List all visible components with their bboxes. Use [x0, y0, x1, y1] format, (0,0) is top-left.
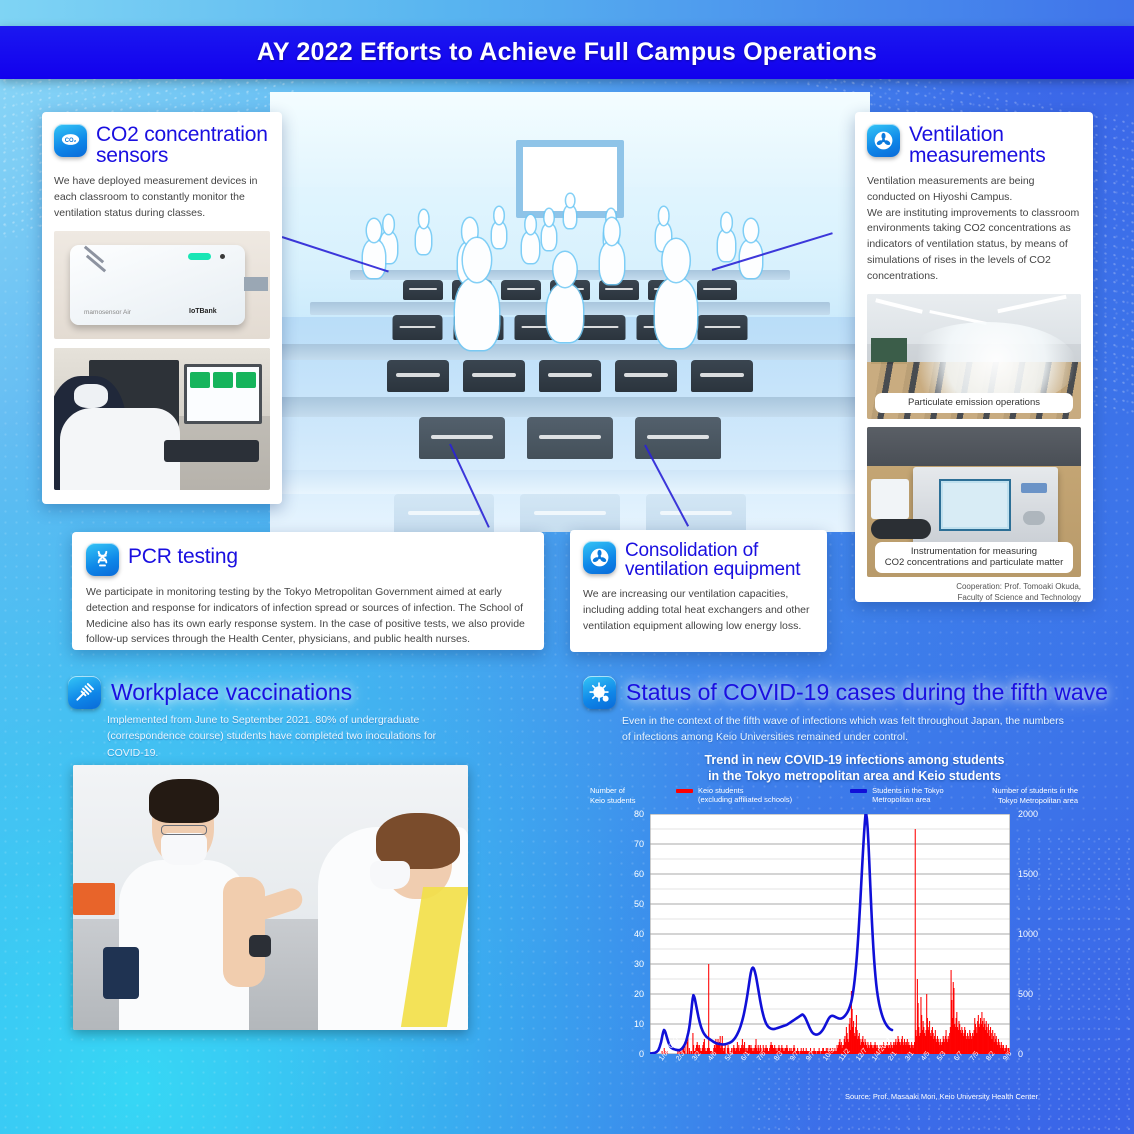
credit-line1: Cooperation: Prof. Tomoaki Okuda,: [956, 582, 1081, 591]
heading-covid-status-text: Status of COVID-19 cases during the fift…: [626, 679, 1108, 706]
left-tick-50: 50: [624, 899, 644, 909]
legend-keio-line2: (excluding affiliated schools): [698, 795, 792, 804]
card-co2-sensors: CO₂ CO2 concentration sensors We have de…: [42, 112, 282, 504]
card-consolidation-body: We are increasing our ventilation capaci…: [583, 587, 814, 634]
left-tick-70: 70: [624, 839, 644, 849]
heading-covid-status: Status of COVID-19 cases during the fift…: [583, 676, 1108, 709]
chart-left-axis-label: Number of Keio students: [590, 786, 635, 806]
left-tick-80: 80: [624, 809, 644, 819]
caption-co2-instrumentation: Instrumentation for measuring CO2 concen…: [875, 542, 1073, 574]
legend-swatch-keio: [676, 789, 693, 793]
card-pcr-title: PCR testing: [128, 543, 238, 567]
card-ventilation-title-line2: measurements: [909, 145, 1046, 166]
photo-particulate-emission: Particulate emission operations: [867, 294, 1081, 419]
svg-text:CO₂: CO₂: [65, 138, 77, 144]
legend-keio-line1: Keio students: [698, 786, 743, 795]
photo-co2-sensor-device: mamosensor Air IoTBank: [54, 231, 270, 339]
chart-title-line1: Trend in new COVID-19 infections among s…: [626, 752, 1083, 768]
caption-line1: Instrumentation for measuring: [911, 546, 1037, 557]
card-ventilation-measurements: Ventilation measurements Ventilation mea…: [855, 112, 1093, 602]
chart-plot-area: [650, 814, 1010, 1054]
fan-icon: [867, 124, 900, 157]
chart-svg: [650, 814, 1010, 1054]
card-co2-title-line1: CO2 concentration: [96, 124, 268, 145]
covid-trend-chart: Trend in new COVID-19 infections among s…: [588, 752, 1083, 1097]
body-covid-status: Even in the context of the fifth wave of…: [622, 713, 1067, 746]
right-tick-1000: 1000: [1018, 929, 1038, 939]
left-tick-0: 0: [624, 1049, 644, 1059]
classroom-illustration: [270, 92, 870, 532]
device-maker-label: IoTBank: [189, 308, 217, 315]
body-workplace-vaccinations: Implemented from June to September 2021.…: [107, 712, 452, 761]
photo-co2-dashboard-monitoring: [54, 348, 270, 490]
legend-item-tokyo: Students in the Tokyo Metropolitan area: [850, 786, 944, 805]
photo-workplace-vaccination: [73, 765, 468, 1030]
right-tick-500: 500: [1018, 989, 1033, 999]
left-tick-20: 20: [624, 989, 644, 999]
right-tick-0: 0: [1018, 1049, 1023, 1059]
caption-line2: CO2 concentrations and particulate matte…: [885, 557, 1063, 568]
card-co2-title-line2: sensors: [96, 145, 268, 166]
dna-icon: [86, 543, 119, 576]
chart-right-axis-label: Number of students in the Tokyo Metropol…: [946, 786, 1078, 806]
caption-particulate-emission: Particulate emission operations: [875, 393, 1073, 413]
left-tick-60: 60: [624, 869, 644, 879]
card-pcr-testing: PCR testing We participate in monitoring…: [72, 532, 544, 650]
card-consolidation-ventilation: Consolidation of ventilation equipment W…: [570, 530, 827, 652]
card-co2-body: We have deployed measurement devices in …: [54, 174, 270, 221]
heading-vaccinations-text: Workplace vaccinations: [111, 679, 352, 706]
right-axis-label-line2: Tokyo Metropolitan area: [946, 796, 1078, 806]
virus-icon: [583, 676, 616, 709]
device-brand-label: mamosensor Air: [84, 309, 131, 316]
left-tick-40: 40: [624, 929, 644, 939]
right-tick-2000: 2000: [1018, 809, 1038, 819]
page-title-bar: AY 2022 Efforts to Achieve Full Campus O…: [0, 26, 1134, 79]
top-gradient-strip: [0, 0, 1134, 26]
chart-legend: Keio students (excluding affiliated scho…: [676, 786, 944, 805]
chart-source: Source: Prof. Masaaki Mori, Keio Univers…: [845, 1092, 1038, 1101]
credit-line2: Faculty of Science and Technology: [958, 593, 1081, 602]
card-ventilation-title-line1: Ventilation: [909, 124, 1046, 145]
photo-co2-instrumentation: Instrumentation for measuring CO2 concen…: [867, 427, 1081, 577]
card-ventilation-body: Ventilation measurements are being condu…: [867, 174, 1081, 284]
page-title: AY 2022 Efforts to Achieve Full Campus O…: [257, 38, 877, 67]
fan-icon: [583, 541, 616, 574]
heading-workplace-vaccinations: Workplace vaccinations: [68, 676, 352, 709]
left-tick-10: 10: [624, 1019, 644, 1029]
right-tick-1500: 1500: [1018, 869, 1038, 879]
card-pcr-body: We participate in monitoring testing by …: [86, 585, 530, 648]
right-axis-label-line1: Number of students in the: [946, 786, 1078, 796]
chart-title-line2: in the Tokyo metropolitan area and Keio …: [626, 768, 1083, 784]
legend-swatch-tokyo: [850, 789, 867, 793]
left-tick-30: 30: [624, 959, 644, 969]
left-axis-label-line1: Number of: [590, 786, 635, 796]
legend-tokyo-line2: Metropolitan area: [872, 795, 930, 804]
legend-tokyo-line1: Students in the Tokyo: [872, 786, 944, 795]
co2-sensor-icon: CO₂: [54, 124, 87, 157]
left-axis-label-line2: Keio students: [590, 796, 635, 806]
card-consolidation-title-line1: Consolidation of: [625, 541, 800, 560]
legend-item-keio: Keio students (excluding affiliated scho…: [676, 786, 792, 805]
chart-title: Trend in new COVID-19 infections among s…: [588, 752, 1083, 785]
card-consolidation-title-line2: ventilation equipment: [625, 560, 800, 579]
syringe-icon: [68, 676, 101, 709]
credit-ventilation: Cooperation: Prof. Tomoaki Okuda, Facult…: [867, 582, 1081, 603]
